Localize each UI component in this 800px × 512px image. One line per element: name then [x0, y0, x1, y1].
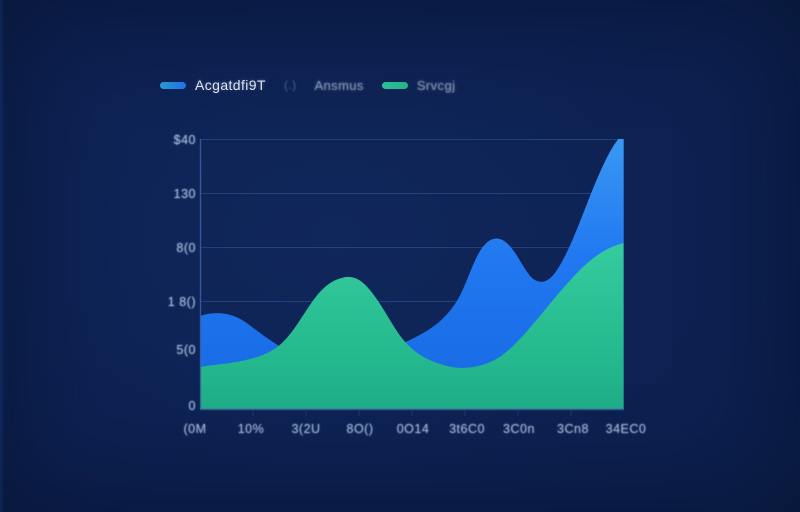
x-tick-label-6: 3C0n [489, 422, 549, 436]
x-tick-label-7: 3Cn8 [543, 422, 603, 436]
chart-screenshot: Acgatdfi9T (.) Ansmus Srvcgj [0, 0, 800, 512]
y-tick-label-5: $40 [150, 133, 196, 147]
x-tick-label-2: 3(2U [276, 422, 336, 436]
x-tick-label-4: 0O14 [383, 422, 443, 436]
y-tick-label-1: 5(0 [150, 343, 196, 357]
x-tick-label-3: 8O() [330, 422, 390, 436]
x-tick-label-5: 3t6C0 [437, 422, 497, 436]
x-tick-label-8: 34EC0 [596, 422, 656, 436]
y-tick-label-4: 130 [150, 187, 196, 201]
y-tick-label-0: 0 [150, 399, 196, 413]
x-tick-label-1: 10% [221, 422, 281, 436]
y-tick-label-3: 8(0 [150, 241, 196, 255]
x-tick-label-0: (0M [165, 422, 225, 436]
y-tick-label-2: 1 8() [150, 295, 196, 309]
plot-area: $40 130 8(0 1 8() 5(0 0 (0M 10% 3(2U 8O(… [0, 0, 800, 512]
